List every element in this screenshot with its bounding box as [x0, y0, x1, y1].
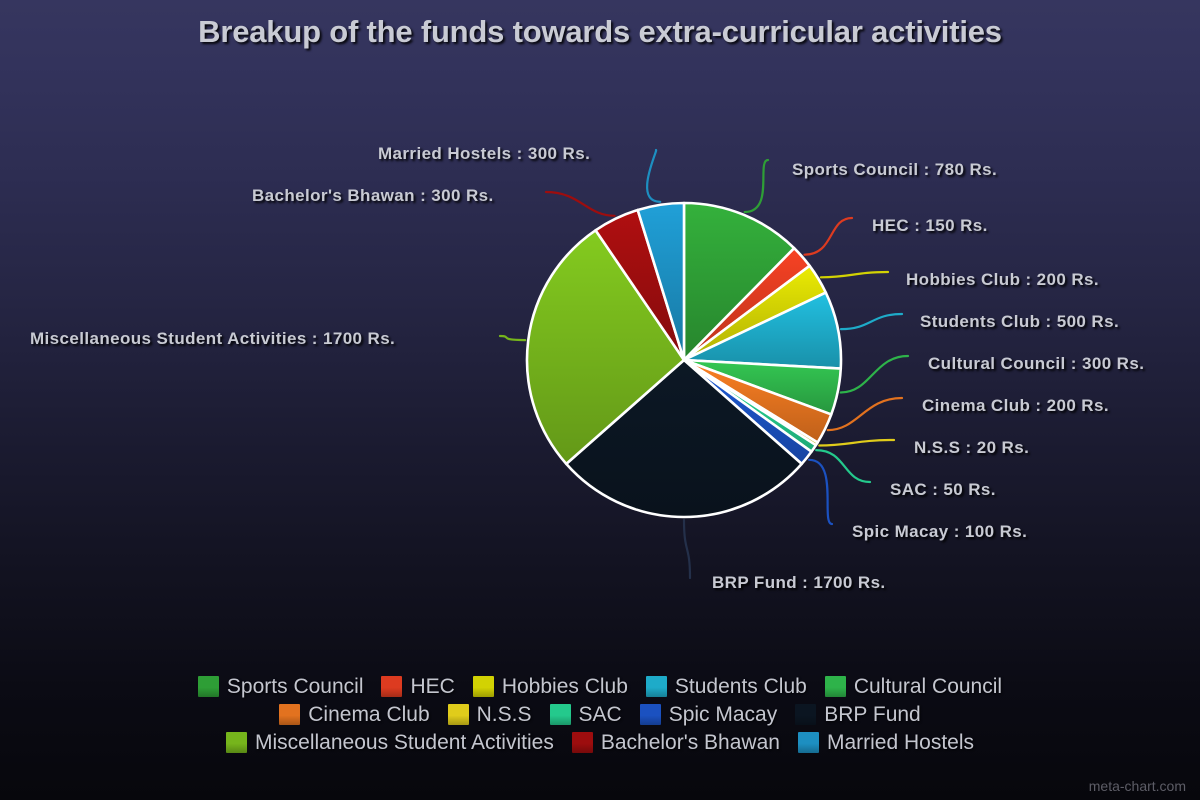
legend-swatch-icon	[381, 676, 402, 697]
legend-swatch-icon	[640, 704, 661, 725]
leader-line-cultural-council	[841, 356, 908, 393]
legend-label: Hobbies Club	[502, 676, 628, 697]
legend-item[interactable]: BRP Fund	[795, 700, 921, 728]
legend-item[interactable]: HEC	[381, 672, 454, 700]
slice-label-misc-student: Miscellaneous Student Activities : 1700 …	[30, 329, 395, 349]
leader-line-married-hostels	[647, 150, 660, 202]
legend-swatch-icon	[795, 704, 816, 725]
leader-line-cinema-club	[828, 398, 902, 430]
slice-label-spic-macay: Spic Macay : 100 Rs.	[852, 522, 1027, 542]
legend-swatch-icon	[448, 704, 469, 725]
legend-swatch-icon	[572, 732, 593, 753]
legend-label: Spic Macay	[669, 704, 778, 725]
leader-line-sports-council	[745, 160, 768, 212]
legend-item[interactable]: Married Hostels	[798, 728, 974, 756]
leader-line-hec	[805, 218, 853, 255]
legend-row: Cinema ClubN.S.SSACSpic MacayBRP Fund	[0, 700, 1200, 728]
legend-label: Students Club	[675, 676, 807, 697]
legend-label: Bachelor's Bhawan	[601, 732, 780, 753]
legend-label: HEC	[410, 676, 454, 697]
legend-label: Cultural Council	[854, 676, 1002, 697]
leader-line-nss	[819, 440, 894, 446]
legend-label: Cinema Club	[308, 704, 429, 725]
legend-swatch-icon	[226, 732, 247, 753]
legend-swatch-icon	[646, 676, 667, 697]
pie-slices	[527, 203, 841, 517]
legend-swatch-icon	[798, 732, 819, 753]
leader-line-students-club	[841, 314, 902, 329]
slice-label-married-hostels: Married Hostels : 300 Rs.	[378, 144, 590, 164]
legend-label: SAC	[579, 704, 622, 725]
slice-label-students-club: Students Club : 500 Rs.	[920, 312, 1119, 332]
leader-line-hobbies-club	[821, 272, 888, 277]
legend-item[interactable]: Cultural Council	[825, 672, 1002, 700]
legend-item[interactable]: Bachelor's Bhawan	[572, 728, 780, 756]
legend-label: Sports Council	[227, 676, 364, 697]
legend-label: Miscellaneous Student Activities	[255, 732, 554, 753]
slice-label-bachelors-bhawan: Bachelor's Bhawan : 300 Rs.	[252, 186, 494, 206]
chart-legend: Sports CouncilHECHobbies ClubStudents Cl…	[0, 672, 1200, 756]
slice-label-cinema-club: Cinema Club : 200 Rs.	[922, 396, 1109, 416]
legend-label: N.S.S	[477, 704, 532, 725]
legend-swatch-icon	[825, 676, 846, 697]
slice-label-sac: SAC : 50 Rs.	[890, 480, 996, 500]
legend-swatch-icon	[473, 676, 494, 697]
legend-swatch-icon	[279, 704, 300, 725]
legend-label: Married Hostels	[827, 732, 974, 753]
slice-label-brp-fund: BRP Fund : 1700 Rs.	[712, 573, 886, 593]
legend-row: Miscellaneous Student ActivitiesBachelor…	[0, 728, 1200, 756]
slice-label-hec: HEC : 150 Rs.	[872, 216, 988, 236]
chart-canvas: Breakup of the funds towards extra-curri…	[0, 0, 1200, 800]
leader-line-sac	[816, 450, 870, 482]
legend-item[interactable]: Students Club	[646, 672, 807, 700]
legend-label: BRP Fund	[824, 704, 921, 725]
legend-item[interactable]: N.S.S	[448, 700, 532, 728]
legend-swatch-icon	[550, 704, 571, 725]
leader-line-misc-student	[500, 336, 525, 340]
slice-label-nss: N.S.S : 20 Rs.	[914, 438, 1029, 458]
legend-row: Sports CouncilHECHobbies ClubStudents Cl…	[0, 672, 1200, 700]
legend-item[interactable]: Spic Macay	[640, 700, 778, 728]
legend-swatch-icon	[198, 676, 219, 697]
leader-line-bachelors-bhawan	[546, 192, 615, 216]
leader-line-spic-macay	[809, 460, 832, 524]
legend-item[interactable]: Miscellaneous Student Activities	[226, 728, 554, 756]
legend-item[interactable]: Sports Council	[198, 672, 364, 700]
leader-line-brp-fund	[684, 520, 690, 578]
slice-label-sports-council: Sports Council : 780 Rs.	[792, 160, 997, 180]
slice-label-hobbies-club: Hobbies Club : 200 Rs.	[906, 270, 1099, 290]
legend-item[interactable]: Cinema Club	[279, 700, 429, 728]
legend-item[interactable]: Hobbies Club	[473, 672, 628, 700]
slice-label-cultural-council: Cultural Council : 300 Rs.	[928, 354, 1144, 374]
watermark: meta-chart.com	[1089, 778, 1186, 794]
legend-item[interactable]: SAC	[550, 700, 622, 728]
